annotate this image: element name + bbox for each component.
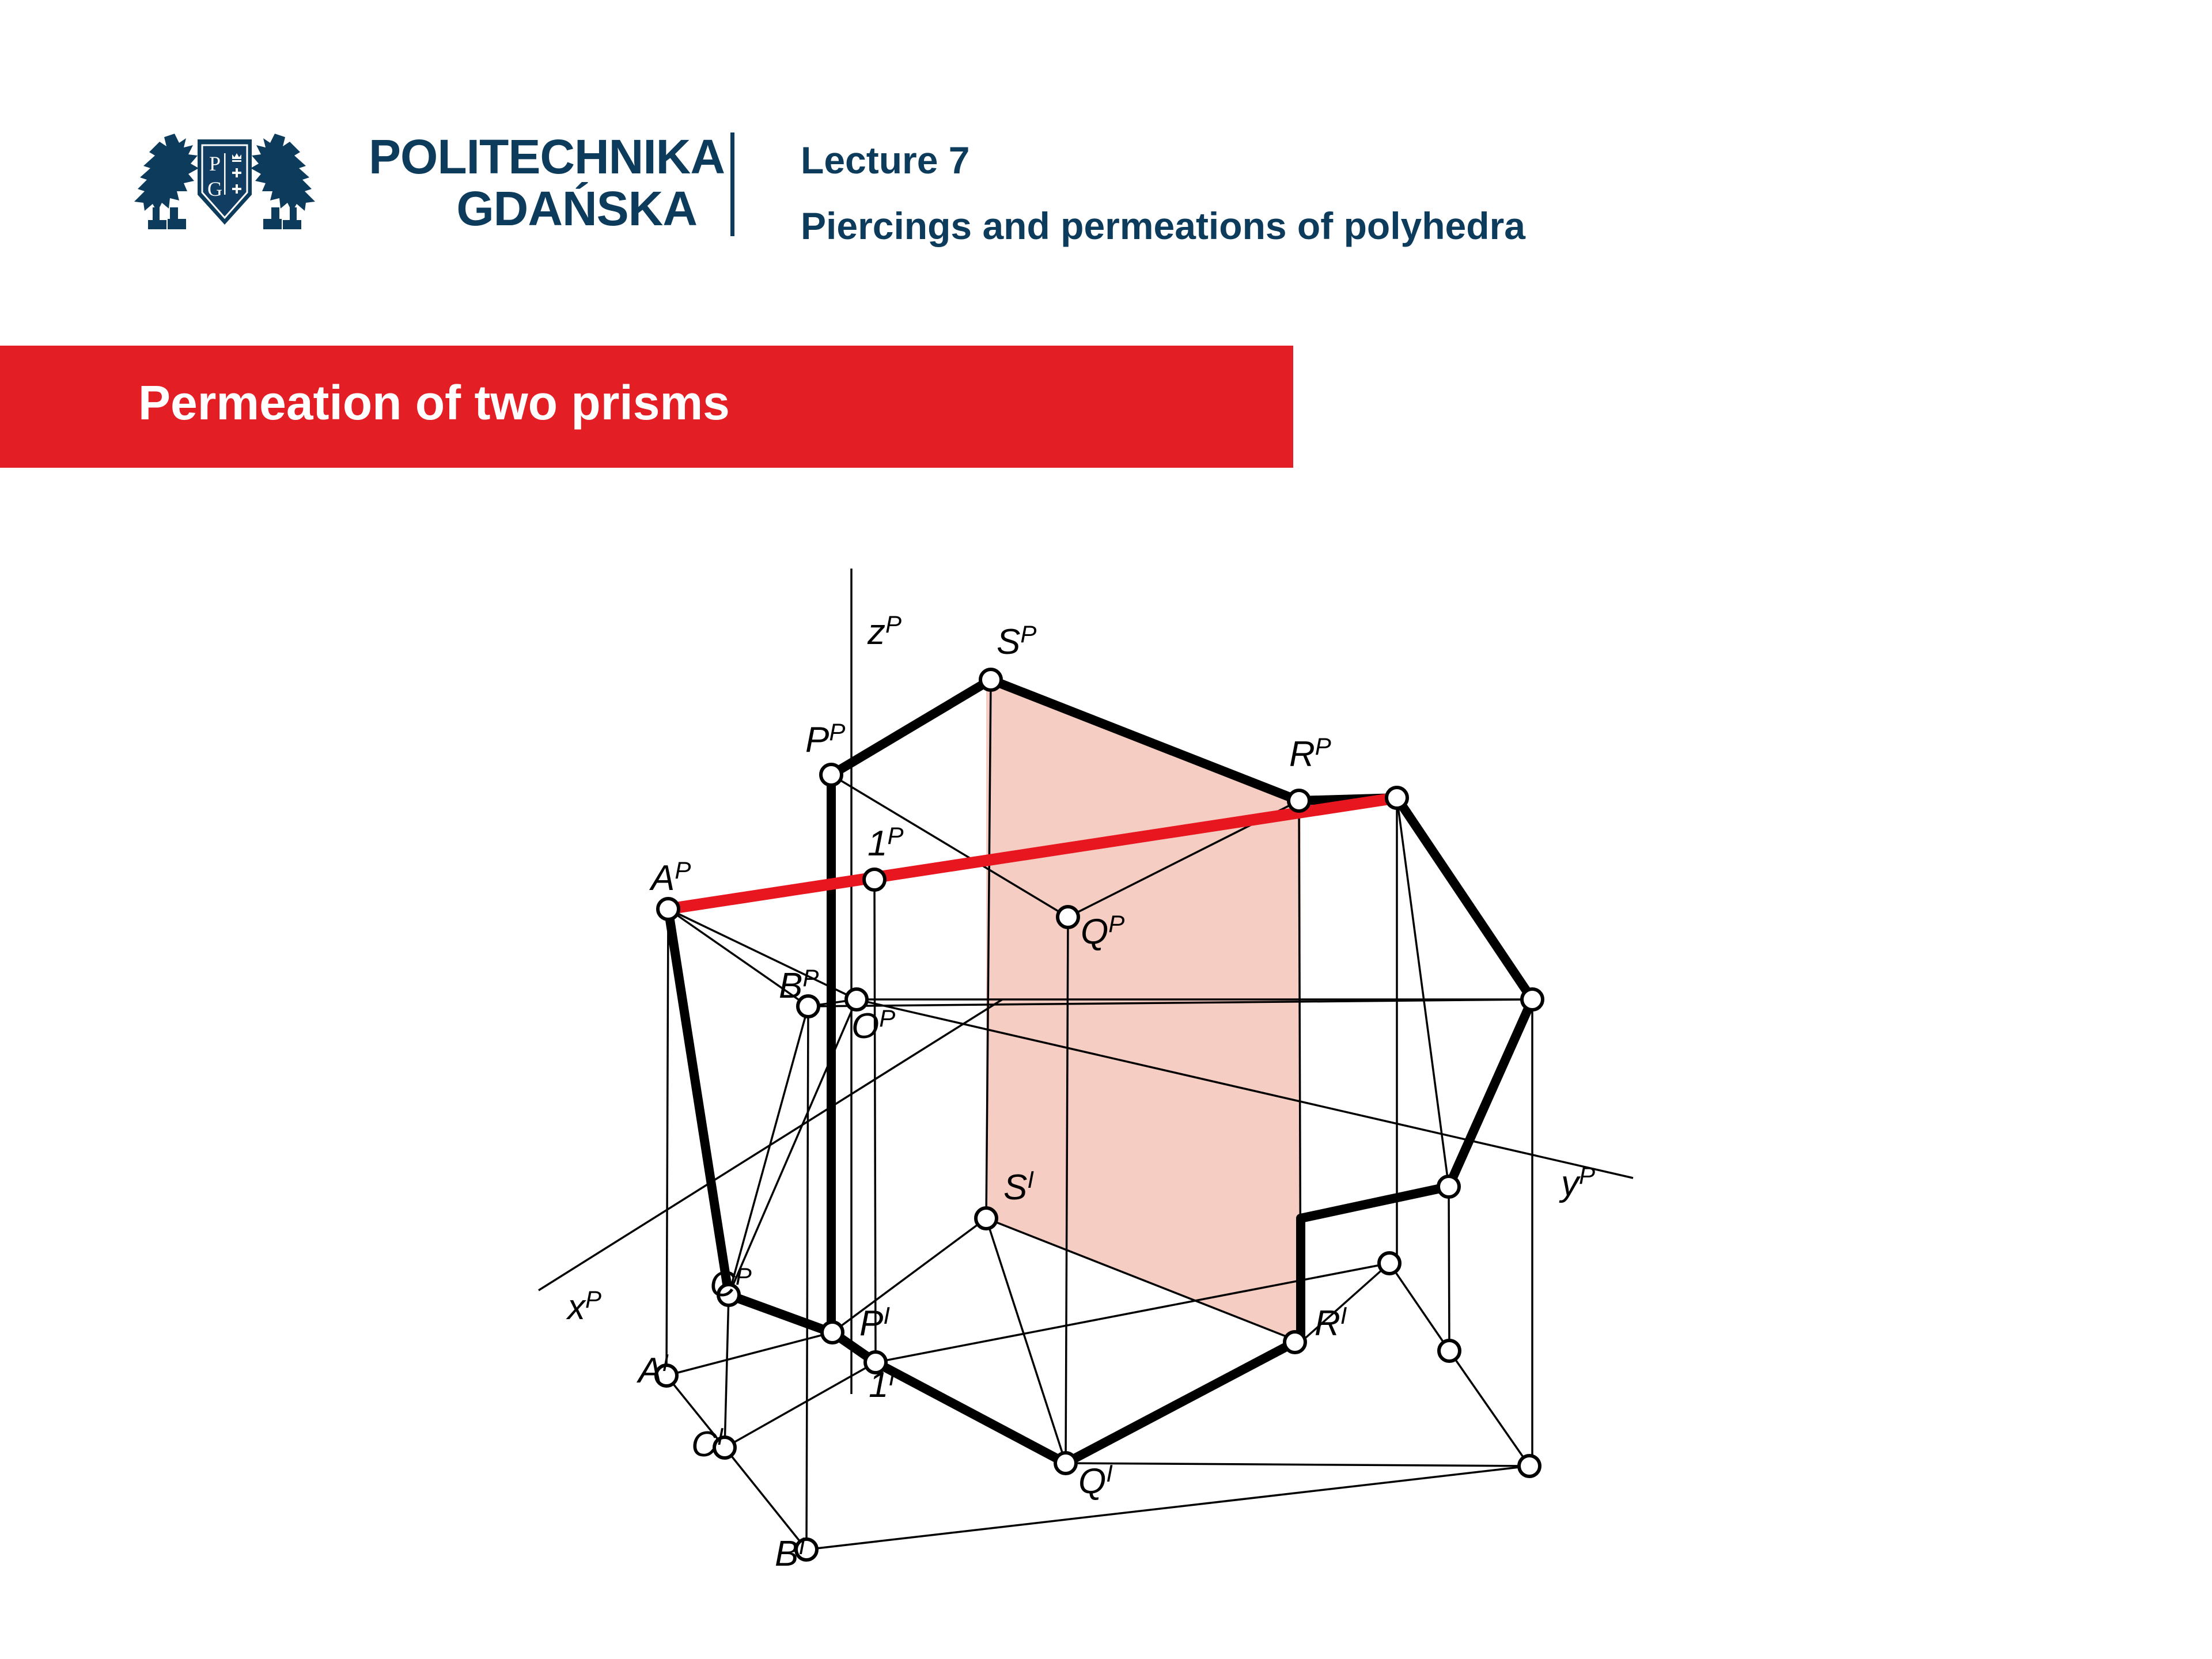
shield-letter-p: P <box>209 152 221 175</box>
lecture-heading: Lecture 7 Piercings and permeations of p… <box>801 128 1525 259</box>
vertex-Q-top <box>1055 1453 1076 1474</box>
vertex-front-far <box>1522 989 1543 1010</box>
vertex-Q-front <box>1058 907 1078 927</box>
label-B-top: BI <box>775 1532 805 1574</box>
brand-line-2: GDAŃSKA <box>369 183 697 235</box>
vertex-P-top <box>822 1322 843 1343</box>
label-one-front: 1P <box>868 822 904 863</box>
lecture-number: Lecture 7 <box>801 128 1525 194</box>
vertex-top-c <box>1519 1456 1540 1476</box>
label-R-front: RP <box>1289 733 1331 774</box>
vertex-S-front <box>980 669 1001 690</box>
top-view-intersection-polyline <box>832 1332 1295 1463</box>
vertex-top-a <box>1379 1253 1400 1274</box>
lecture-subject: Piercings and permeations of polyhedra <box>801 194 1525 259</box>
permeation-of-two-prisms-drawing: AP BP CP OP PP QP RP SP 1P AI BI CI PI Q… <box>0 495 2212 1659</box>
vertex-R-top <box>1285 1332 1305 1353</box>
vertex-R-front <box>1289 790 1309 811</box>
politechnika-gdanska-logo: P G <box>124 121 325 233</box>
page-title: Permeation of two prisms <box>138 375 730 431</box>
label-Q-top: QI <box>1078 1460 1113 1501</box>
label-x-axis: xP <box>566 1286 601 1327</box>
lion-right-icon <box>251 134 315 229</box>
label-A-front: AP <box>649 857 691 898</box>
lion-left-icon <box>134 134 199 229</box>
vertex-S-top <box>976 1208 997 1229</box>
label-S-front: SP <box>997 620 1036 662</box>
slide-title-banner: Permeation of two prisms <box>0 346 1293 468</box>
brand-line-1: POLITECHNIKA <box>369 131 697 183</box>
label-z-axis: zP <box>867 611 902 652</box>
vertex-one-front <box>864 869 885 890</box>
descriptive-geometry-figure: AP BP CP OP PP QP RP SP 1P AI BI CI PI Q… <box>0 495 2212 1659</box>
vertex-A-front <box>658 899 679 919</box>
header-divider <box>730 132 734 236</box>
vertex-P-front <box>821 764 842 785</box>
shield-letter-g: G <box>207 177 222 200</box>
label-R-top: RI <box>1315 1302 1347 1343</box>
label-one-top: 1I <box>869 1363 895 1405</box>
label-y-axis: yP <box>1559 1162 1595 1203</box>
vertex-front-right <box>1387 787 1407 808</box>
vertex-front-lower <box>1438 1176 1459 1197</box>
label-O-front: OP <box>851 1005 895 1046</box>
shield-icon: P G <box>198 139 252 225</box>
brand-wordmark: POLITECHNIKA GDAŃSKA <box>369 131 697 235</box>
label-P-top: PI <box>859 1302 890 1343</box>
slide-header: P G POLITECHNIKA GDAŃSKA Lecture 7 Pierc… <box>0 0 2212 323</box>
label-P-front: PP <box>805 718 845 760</box>
vertex-top-b <box>1439 1340 1460 1361</box>
